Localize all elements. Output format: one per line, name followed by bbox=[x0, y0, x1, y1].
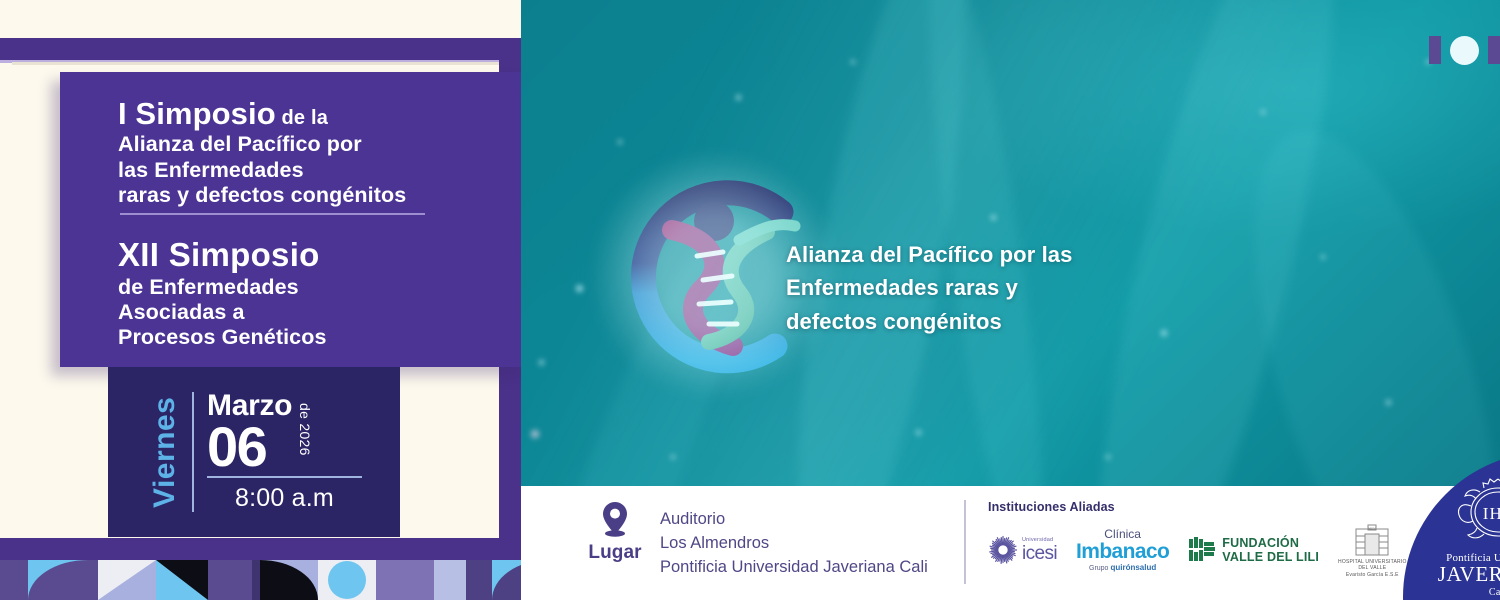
event-date-card: Viernes Marzo 06 de 2026 8:00 a.m bbox=[108, 367, 400, 537]
valle-del-lili-cross-icon bbox=[1188, 536, 1216, 564]
pattern-tile bbox=[0, 560, 28, 600]
footer-bar: Lugar Auditorio Los Almendros Pontificia… bbox=[521, 486, 1500, 600]
date-inner: Viernes Marzo 06 de 2026 8:00 a.m bbox=[146, 388, 362, 516]
huv-line-3: Evaristo García E.S.E bbox=[1338, 572, 1407, 578]
icesi-wordmark: Universidad icesi bbox=[1022, 538, 1057, 563]
sparkle-dot bbox=[916, 430, 921, 435]
event-title-card: I Simposio de la Alianza del Pacífico po… bbox=[60, 72, 521, 367]
huv-wordmark: HOSPITAL UNIVERSITARIO DEL VALLE Evarist… bbox=[1338, 559, 1407, 578]
hero-title-line-3: defectos congénitos bbox=[786, 305, 1116, 338]
pattern-tile bbox=[88, 560, 98, 600]
pattern-tile bbox=[98, 560, 156, 600]
sparkle-dot bbox=[539, 360, 544, 365]
pattern-tile bbox=[492, 560, 521, 600]
pattern-tile-shape bbox=[328, 561, 366, 599]
deco-bar-icon bbox=[1429, 36, 1441, 64]
frame-top-bar bbox=[0, 38, 521, 60]
pattern-tile bbox=[466, 560, 492, 600]
hero-title-line-1: Alianza del Pacífico por las bbox=[786, 238, 1116, 271]
sparkle-dot bbox=[1106, 455, 1110, 459]
valle-del-lili-line-1: FUNDACIÓN bbox=[1222, 536, 1319, 550]
frame-inner-line bbox=[12, 62, 499, 65]
sparkle-dot bbox=[531, 430, 539, 438]
pattern-tile bbox=[376, 560, 434, 600]
sparkle-dot bbox=[736, 95, 741, 100]
venue-line-3: Pontificia Universidad Javeriana Cali bbox=[660, 556, 928, 580]
huv-building-icon: HUV bbox=[1354, 523, 1390, 557]
imbanaco-logo: Clínica Imbanaco Grupo quirónsalud bbox=[1076, 528, 1169, 572]
svg-text:HUV: HUV bbox=[1369, 526, 1377, 530]
sparkle-dot bbox=[1261, 110, 1265, 114]
pattern-tile bbox=[252, 560, 260, 600]
pattern-tile bbox=[434, 560, 466, 600]
title-line-6: de Enfermedades bbox=[118, 276, 521, 298]
venue-pin-column: Lugar bbox=[576, 500, 654, 564]
sparkle-dot bbox=[851, 60, 855, 64]
imbanaco-line-2: Imbanaco bbox=[1076, 541, 1169, 562]
allied-institutions-heading: Instituciones Aliadas bbox=[988, 500, 1468, 514]
pattern-tile-shape bbox=[28, 560, 88, 600]
hospital-universitario-del-valle-logo: HUV HOSPITAL UNIVERSITARIO DEL VALLE Eva… bbox=[1338, 523, 1407, 578]
date-day-number: 06 bbox=[207, 422, 292, 471]
hero-panel: Alianza del Pacífico por las Enfermedade… bbox=[521, 0, 1500, 486]
geometric-pattern-strip bbox=[0, 560, 521, 600]
hero-title-line-2: Enfermedades raras y bbox=[786, 271, 1116, 304]
sparkle-dot bbox=[1161, 330, 1167, 336]
pattern-tile bbox=[28, 560, 88, 600]
pattern-tile bbox=[260, 560, 318, 600]
date-horizontal-rule bbox=[207, 476, 362, 478]
top-right-decoration bbox=[1429, 36, 1500, 64]
sparkle-dot bbox=[576, 285, 583, 292]
frame-bottom-bar bbox=[0, 538, 521, 560]
venue-pin-label: Lugar bbox=[588, 542, 641, 564]
sparkle-dot bbox=[1386, 400, 1391, 405]
pattern-tile-shape bbox=[156, 560, 208, 600]
title-line-3: las Enfermedades bbox=[118, 159, 521, 181]
pattern-tile-shape bbox=[492, 560, 521, 600]
javeriana-line-3: Cali bbox=[1489, 587, 1500, 598]
title-de-la: de la bbox=[276, 107, 328, 129]
date-right-column: Marzo 06 de 2026 8:00 a.m bbox=[207, 388, 362, 516]
icesi-burst-icon bbox=[988, 535, 1018, 565]
title-line-5: XII Simposio bbox=[118, 238, 521, 272]
javeriana-line-2: JAVERIANA bbox=[1438, 564, 1500, 585]
pattern-tile bbox=[318, 560, 376, 600]
date-top-row: Marzo 06 de 2026 bbox=[207, 391, 362, 471]
hero-title: Alianza del Pacífico por las Enfermedade… bbox=[786, 238, 1116, 338]
imbanaco-line-1: Clínica bbox=[1104, 528, 1141, 540]
title-simposio-ordinal: I Simposio bbox=[118, 96, 276, 131]
poster-banner: Alianza del Pacífico por las Enfermedade… bbox=[0, 0, 1500, 600]
javeriana-crest-icon: IHS bbox=[1450, 476, 1500, 548]
title-line-2: Alianza del Pacífico por bbox=[118, 133, 521, 155]
deco-bar-icon bbox=[1488, 36, 1500, 64]
title-line-1: I Simposio de la bbox=[118, 98, 521, 130]
pattern-tile bbox=[208, 560, 252, 600]
title-line-8: Procesos Genéticos bbox=[118, 326, 521, 348]
date-year: de 2026 bbox=[297, 403, 313, 456]
event-time: 8:00 a.m bbox=[207, 484, 362, 513]
imbanaco-grupo-text: Grupo bbox=[1089, 565, 1108, 572]
sparkle-dot bbox=[991, 215, 996, 220]
venue-line-2: Los Almendros bbox=[660, 532, 928, 556]
javeriana-crest-block: IHS Pontificia Universidad JAVERIANA Cal… bbox=[1423, 476, 1500, 598]
date-month-day: Marzo 06 bbox=[207, 391, 292, 471]
quironsalud-text: quirónsalud bbox=[1110, 564, 1156, 572]
title-underline-rule bbox=[120, 213, 425, 215]
deco-circle-icon bbox=[1450, 36, 1479, 65]
footer-divider bbox=[964, 500, 966, 584]
location-pin-icon bbox=[600, 500, 630, 540]
venue-address: Auditorio Los Almendros Pontificia Unive… bbox=[660, 508, 928, 580]
venue-line-1: Auditorio bbox=[660, 508, 928, 532]
valle-del-lili-wordmark: FUNDACIÓN VALLE DEL LILI bbox=[1222, 536, 1319, 564]
imbanaco-line-3: Grupo quirónsalud bbox=[1089, 564, 1156, 572]
pattern-tile-shape bbox=[98, 560, 156, 600]
allied-logos-row: Universidad icesi Clínica Imbanaco Grupo… bbox=[988, 523, 1468, 578]
sparkle-dot bbox=[671, 455, 675, 459]
fundacion-valle-del-lili-logo: FUNDACIÓN VALLE DEL LILI bbox=[1188, 536, 1319, 564]
title-line-4: raras y defectos congénitos bbox=[118, 184, 521, 206]
valle-del-lili-line-2: VALLE DEL LILI bbox=[1222, 550, 1319, 564]
date-weekday: Viernes bbox=[146, 388, 182, 516]
title-line-7: Asociadas a bbox=[118, 301, 521, 323]
sparkle-dot bbox=[618, 140, 622, 144]
javeriana-ihs-text: IHS bbox=[1483, 504, 1500, 523]
poster-left-panel: I Simposio de la Alianza del Pacífico po… bbox=[0, 0, 521, 600]
icesi-logo: Universidad icesi bbox=[988, 535, 1057, 565]
sparkle-dot bbox=[1321, 255, 1325, 259]
venue-block: Lugar Auditorio Los Almendros Pontificia… bbox=[576, 500, 928, 580]
icesi-big-text: icesi bbox=[1022, 544, 1057, 563]
pattern-tile bbox=[156, 560, 208, 600]
allied-institutions-block: Instituciones Aliadas Universidad icesi bbox=[988, 500, 1468, 578]
pattern-tile-shape bbox=[260, 560, 318, 600]
date-vertical-rule bbox=[192, 392, 194, 512]
